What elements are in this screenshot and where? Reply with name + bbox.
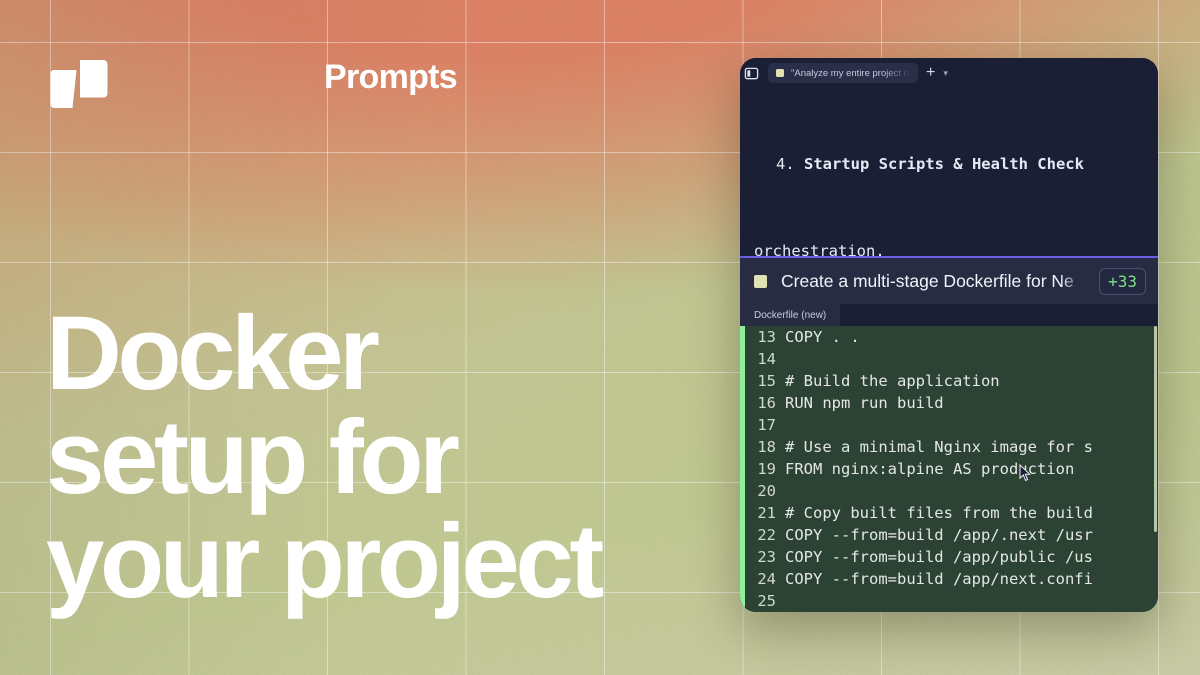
code-line-text: COPY --from=build /app/next.confi xyxy=(785,570,1158,588)
code-line-number: 24 xyxy=(745,570,785,588)
code-line: 13COPY . . xyxy=(745,326,1158,348)
code-line-text: COPY --from=build /app/public /us xyxy=(785,548,1158,566)
tab-active-label: "Analyze my entire project dir xyxy=(791,68,910,79)
code-line-text: FROM nginx:alpine AS production xyxy=(785,460,1158,478)
code-line-number: 13 xyxy=(745,328,785,346)
prompt-card[interactable]: Create a multi-stage Dockerfile for Ne +… xyxy=(740,256,1158,304)
prompt-card-title: Create a multi-stage Dockerfile for Ne xyxy=(781,271,1085,292)
new-tab-button[interactable]: + xyxy=(924,65,937,81)
code-line-number: 20 xyxy=(745,482,785,500)
code-line: 19FROM nginx:alpine AS production xyxy=(745,458,1158,480)
code-line-text: # Build the application xyxy=(785,372,1158,390)
page-title-line-1: Docker xyxy=(46,302,600,406)
code-line-text: COPY --from=build /app/.next /usr xyxy=(785,526,1158,544)
page-title-line-3: your project xyxy=(46,510,600,614)
assistant-transcript: 4. Startup Scripts & Health Check orches… xyxy=(740,88,1158,256)
file-tab-dockerfile[interactable]: Dockerfile (new) xyxy=(740,304,840,326)
code-line-text: # Copy built files from the build xyxy=(785,504,1158,522)
code-line-number: 22 xyxy=(745,526,785,544)
mouse-cursor-icon xyxy=(1019,464,1031,487)
code-editor[interactable]: 13COPY . .1415# Build the application16R… xyxy=(740,326,1158,612)
code-line: 16RUN npm run build xyxy=(745,392,1158,414)
diff-count-badge: +33 xyxy=(1099,268,1146,295)
square-status-icon xyxy=(776,69,784,77)
code-line-number: 18 xyxy=(745,438,785,456)
code-line: 15# Build the application xyxy=(745,370,1158,392)
code-line: 18# Use a minimal Nginx image for s xyxy=(745,436,1158,458)
code-line-text: COPY . . xyxy=(785,328,1158,346)
code-line-number: 14 xyxy=(745,350,785,368)
page-title: Docker setup for your project xyxy=(46,302,600,614)
tab-active[interactable]: "Analyze my entire project dir xyxy=(768,63,918,83)
code-line-number: 15 xyxy=(745,372,785,390)
code-line-text: RUN npm run build xyxy=(785,394,1158,412)
app-window: "Analyze my entire project dir + ▾ 4. St… xyxy=(740,58,1158,612)
code-line: 17 xyxy=(745,414,1158,436)
scrollbar-thumb[interactable] xyxy=(1154,326,1157,532)
code-line-number: 25 xyxy=(745,592,785,610)
square-status-icon xyxy=(754,275,767,288)
transcript-line: orchestration. xyxy=(754,237,1158,256)
code-line: 23COPY --from=build /app/public /us xyxy=(745,546,1158,568)
layers-logo-icon xyxy=(50,59,108,109)
code-line: 25 xyxy=(745,590,1158,612)
code-line: 24COPY --from=build /app/next.confi xyxy=(745,568,1158,590)
sidebar-toggle-icon[interactable] xyxy=(740,62,762,84)
code-line: 14 xyxy=(745,348,1158,370)
code-line: 21# Copy built files from the build xyxy=(745,502,1158,524)
code-line-number: 23 xyxy=(745,548,785,566)
code-line: 20 xyxy=(745,480,1158,502)
code-line-text: # Use a minimal Nginx image for s xyxy=(785,438,1158,456)
code-line-number: 16 xyxy=(745,394,785,412)
code-lines: 13COPY . .1415# Build the application16R… xyxy=(745,326,1158,612)
file-tab-bar: Dockerfile (new) xyxy=(740,304,1158,326)
chevron-down-icon[interactable]: ▾ xyxy=(943,69,948,78)
page-title-line-2: setup for xyxy=(46,406,600,510)
transcript-line: 4. Startup Scripts & Health Check xyxy=(754,150,1158,179)
code-line-number: 19 xyxy=(745,460,785,478)
code-line-number: 17 xyxy=(745,416,785,434)
code-line: 22COPY --from=build /app/.next /usr xyxy=(745,524,1158,546)
code-line-number: 21 xyxy=(745,504,785,522)
page-eyebrow-label: Prompts xyxy=(324,60,457,94)
tab-strip: "Analyze my entire project dir + ▾ xyxy=(740,58,1158,88)
